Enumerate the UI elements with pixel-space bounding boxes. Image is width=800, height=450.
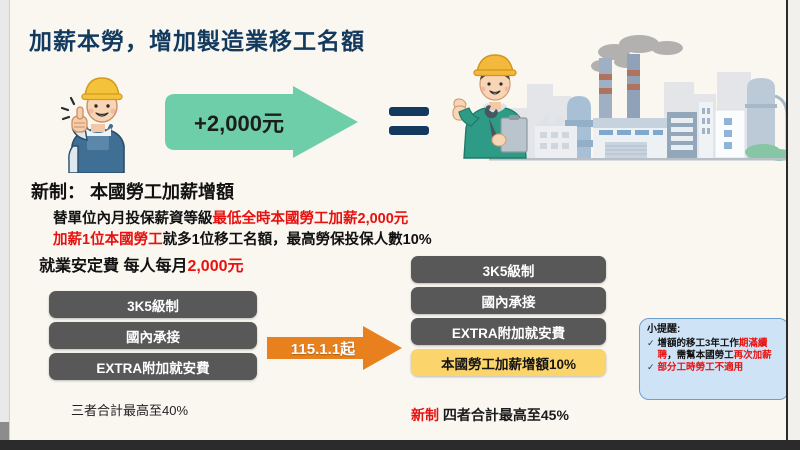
old-scheme-caption: 三者合計最高至40% [71,400,188,419]
green-amount-arrow: +2,000元 [159,86,364,158]
reminder-item-1-text: 部分工時勞工不適用 [658,362,782,374]
reminder-item-0-text: 增額的移工3年工作期滿續聘，需幫本國勞工再次加薪 [658,338,782,362]
effective-date-arrow: 115.1.1起 [267,326,402,370]
worker-thumbs-up-icon [57,68,147,173]
old-item-2[interactable]: EXTRA附加就安費 [49,353,257,380]
reminder-item-0: ✓ 增額的移工3年工作期滿續聘，需幫本國勞工再次加薪 [647,338,782,362]
new-item-1[interactable]: 國內承接 [411,287,606,314]
equals-sign-icon [387,105,431,143]
slide-canvas: 加薪本勞，增加製造業移工名額 [0,0,800,450]
check-mark-icon: ✓ [647,362,655,374]
reminder-title: 小提醒: [647,324,782,337]
policy-line-3-black: 就業安定費 每人每月 [39,258,187,275]
window-right-edge [788,0,800,450]
old-item-1[interactable]: 國內承接 [49,322,257,349]
new-scheme-caption-text: 四者合計最高至45% [443,407,569,423]
policy-line-3: 就業安定費 每人每月2,000元 [39,252,244,276]
policy-heading: 新制： 本國勞工加薪增額 [31,178,234,204]
old-item-0[interactable]: 3K5級制 [49,291,257,318]
effective-date-label: 115.1.1起 [273,326,373,370]
page-title: 加薪本勞，增加製造業移工名額 [29,22,365,56]
policy-line-2-black: 就多1位移工名額，最高勞保投保人數10% [163,232,432,248]
factory-worker-illustration [449,22,788,177]
window-right-border [786,0,788,450]
policy-line-2: 加薪1位本國勞工就多1位移工名額，最高勞保投保人數10% [53,228,432,249]
new-scheme-caption: 新制 四者合計最高至45% [411,405,569,425]
window-bottom-bar [0,440,800,450]
policy-line-1: 替單位內月投保薪資等級最低全時本國勞工加薪2,000元 [53,207,408,228]
new-scheme-tag: 新制 [411,407,439,423]
reminder-item-1: ✓ 部分工時勞工不適用 [647,362,782,374]
check-mark-icon: ✓ [647,338,655,350]
policy-line-3-red: 2,000元 [187,258,243,275]
new-item-2[interactable]: EXTRA附加就安費 [411,318,606,345]
policy-line-1-red: 最低全時本國勞工加薪2,000元 [213,211,409,227]
slide-stage: 加薪本勞，增加製造業移工名額 [9,0,788,440]
green-arrow-label: +2,000元 [159,86,319,158]
policy-line-1-black: 替單位內月投保薪資等級 [53,211,213,227]
window-left-edge [0,0,10,450]
new-item-3-highlight[interactable]: 本國勞工加薪增額10% [411,349,606,376]
policy-line-2-red: 加薪1位本國勞工 [53,232,163,248]
new-item-0[interactable]: 3K5級制 [411,256,606,283]
reminder-callout: 小提醒: ✓ 增額的移工3年工作期滿續聘，需幫本國勞工再次加薪 ✓ 部分工時勞工… [639,318,788,400]
